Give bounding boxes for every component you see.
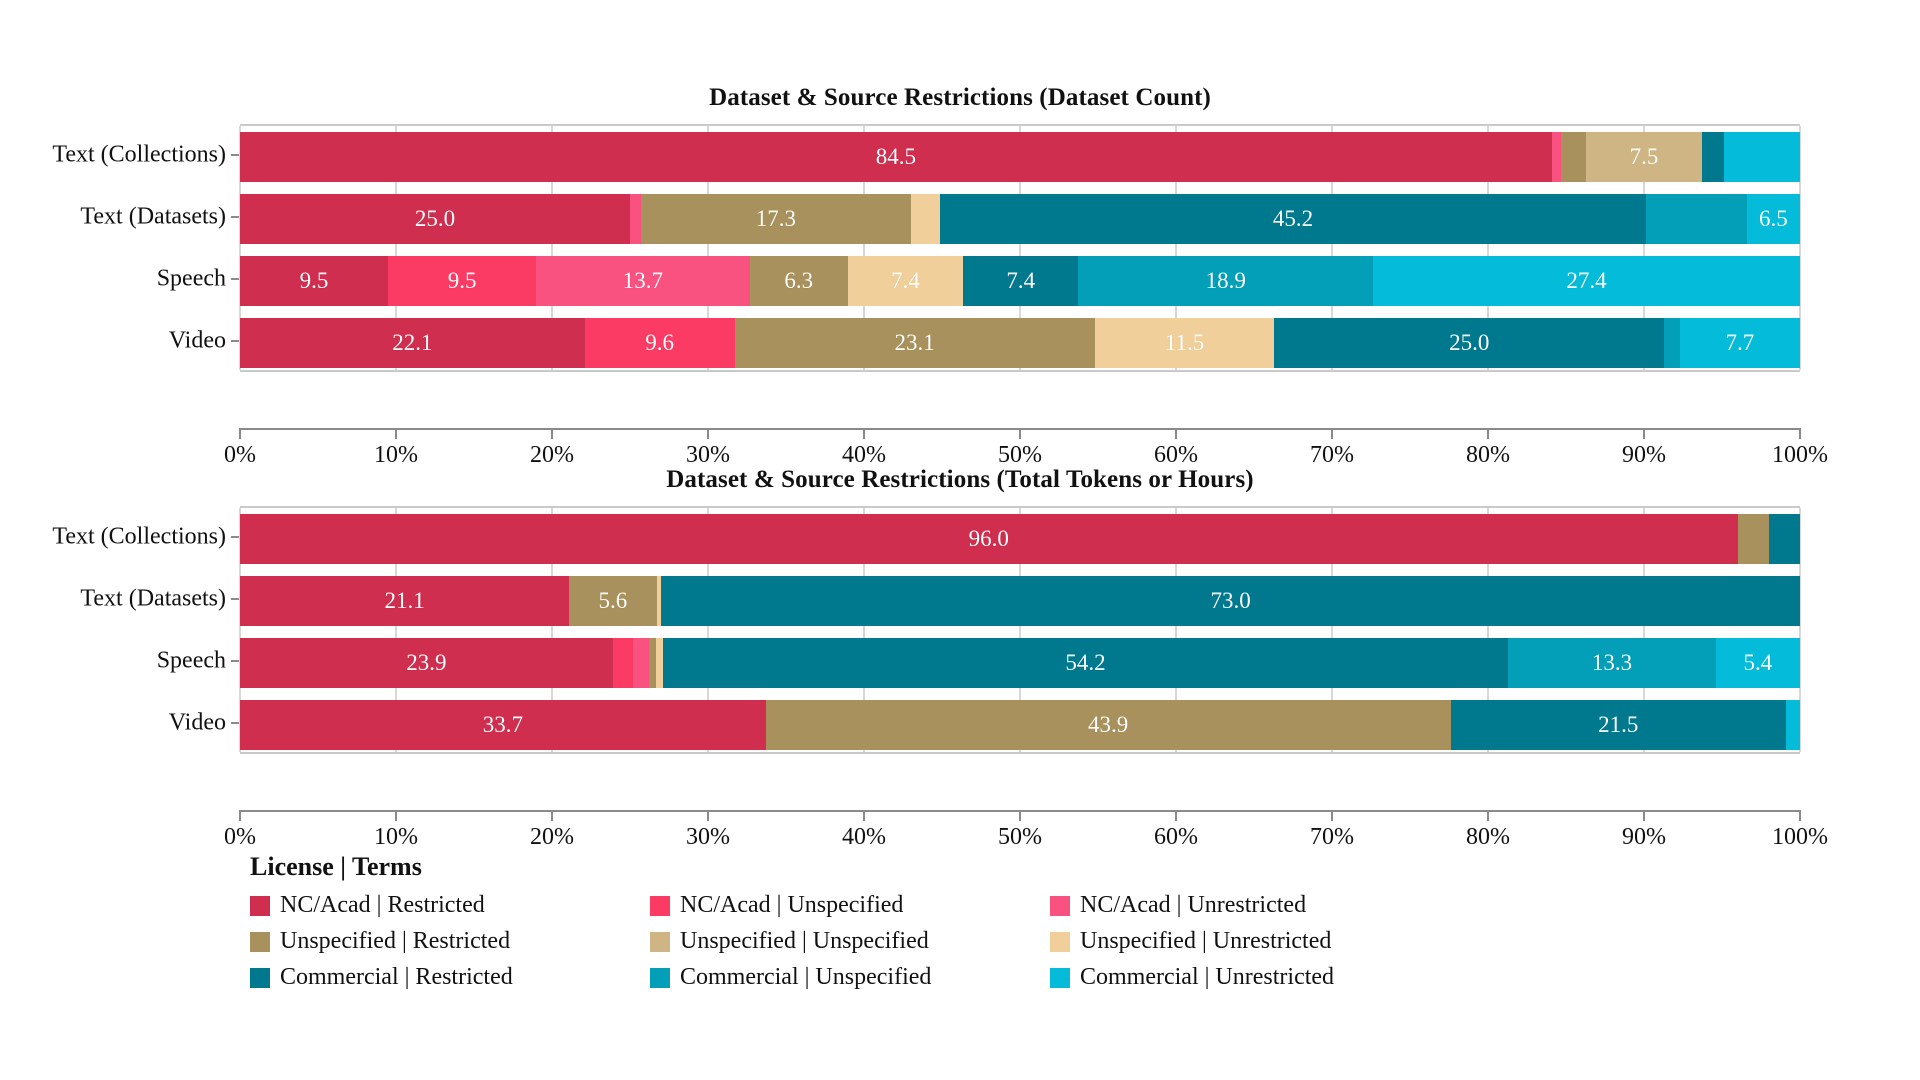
bar-segment[interactable] <box>1724 132 1800 182</box>
legend-label: Commercial | Unrestricted <box>1080 964 1334 991</box>
bar-row[interactable]: 96.0 <box>240 514 1800 564</box>
bar-segment[interactable]: 9.6 <box>585 318 735 368</box>
x-axis-tick-label: 100% <box>1772 824 1828 851</box>
bar-segment[interactable]: 7.4 <box>963 256 1078 306</box>
legend-swatch-icon <box>650 968 670 988</box>
bar-segment[interactable] <box>1561 132 1586 182</box>
bar-row[interactable]: 25.017.345.26.5 <box>240 194 1800 244</box>
bar-segment[interactable]: 33.7 <box>240 700 766 750</box>
bar-segment[interactable] <box>1786 700 1800 750</box>
bar-value-label: 6.3 <box>784 268 813 294</box>
legend-swatch-icon <box>250 896 270 916</box>
bar-segment[interactable] <box>1664 318 1680 368</box>
x-axis-tick <box>239 810 241 821</box>
legend-items: NC/Acad | RestrictedNC/Acad | Unspecifie… <box>250 892 1450 991</box>
bar-value-label: 22.1 <box>392 330 432 356</box>
x-axis-tick-label: 0% <box>224 442 256 469</box>
x-axis-tick-label: 100% <box>1772 442 1828 469</box>
y-axis-labels-1: Text (Collections)Text (Datasets)SpeechV… <box>0 124 240 372</box>
legend-label: NC/Acad | Unspecified <box>680 892 903 919</box>
bar-segment[interactable]: 84.5 <box>240 132 1552 182</box>
x-axis-tick-label: 10% <box>374 442 418 469</box>
bar-value-label: 45.2 <box>1273 206 1313 232</box>
x-axis-tick <box>1019 810 1021 821</box>
bar-segment[interactable]: 96.0 <box>240 514 1738 564</box>
chart-title-1: Dataset & Source Restrictions (Dataset C… <box>0 84 1920 112</box>
x-axis-tick <box>1019 428 1021 439</box>
y-axis-label-text-datasets: Text (Datasets) <box>80 586 226 613</box>
x-axis-tick <box>551 810 553 821</box>
bar-row[interactable]: 21.15.673.0 <box>240 576 1800 626</box>
x-axis-tick <box>863 810 865 821</box>
x-axis-2: 0%10%20%30%40%50%60%70%80%90%100% <box>240 810 1800 856</box>
bar-segment[interactable]: 45.2 <box>940 194 1645 244</box>
bar-segment[interactable] <box>1702 132 1724 182</box>
x-axis-tick <box>707 810 709 821</box>
bar-value-label: 25.0 <box>415 206 455 232</box>
bar-value-label: 96.0 <box>969 526 1009 552</box>
bar-value-label: 54.2 <box>1065 650 1105 676</box>
x-axis-tick <box>1799 810 1801 821</box>
bar-segment[interactable]: 5.6 <box>569 576 656 626</box>
y-axis-label-speech: Speech <box>157 648 226 675</box>
x-axis-tick-label: 80% <box>1466 442 1510 469</box>
legend-swatch-icon <box>650 896 670 916</box>
bar-value-label: 43.9 <box>1088 712 1128 738</box>
bar-segment[interactable] <box>1738 514 1769 564</box>
bars-container-1: 84.57.525.017.345.26.59.59.513.76.37.47.… <box>240 124 1800 372</box>
bar-segment[interactable]: 17.3 <box>641 194 911 244</box>
bar-segment[interactable]: 21.5 <box>1451 700 1786 750</box>
x-axis-tick-label: 40% <box>842 442 886 469</box>
x-axis-tick <box>239 428 241 439</box>
legend-label: Commercial | Restricted <box>280 964 513 991</box>
bar-segment[interactable]: 9.5 <box>388 256 536 306</box>
plot-area-1: Text (Collections)Text (Datasets)SpeechV… <box>0 124 1920 372</box>
bar-segment[interactable]: 6.5 <box>1747 194 1800 244</box>
legend-label: NC/Acad | Restricted <box>280 892 485 919</box>
bar-segment[interactable]: 7.7 <box>1680 318 1800 368</box>
bar-row[interactable]: 9.59.513.76.37.47.418.927.4 <box>240 256 1800 306</box>
bar-value-label: 7.5 <box>1630 144 1659 170</box>
bar-segment[interactable]: 7.5 <box>1586 132 1702 182</box>
x-axis-tick-label: 30% <box>686 824 730 851</box>
x-axis-tick-label: 90% <box>1622 442 1666 469</box>
bar-segment[interactable] <box>911 194 941 244</box>
legend-label: NC/Acad | Unrestricted <box>1080 892 1306 919</box>
bar-segment[interactable] <box>1646 194 1747 244</box>
x-axis-tick-label: 70% <box>1310 824 1354 851</box>
chart-panel-total-tokens-hours: Dataset & Source Restrictions (Total Tok… <box>0 466 1920 754</box>
y-axis-label-video: Video <box>169 328 226 355</box>
y-axis-label-speech: Speech <box>157 266 226 293</box>
bar-segment[interactable] <box>633 638 649 688</box>
bar-row[interactable]: 33.743.921.5 <box>240 700 1800 750</box>
x-axis-tick <box>1175 810 1177 821</box>
x-axis-tick <box>395 428 397 439</box>
x-axis-tick <box>551 428 553 439</box>
bar-value-label: 5.6 <box>598 588 627 614</box>
bar-row[interactable]: 23.954.213.35.4 <box>240 638 1800 688</box>
x-axis-tick <box>1643 810 1645 821</box>
x-axis-tick-label: 0% <box>224 824 256 851</box>
legend-item[interactable]: Unspecified | Unrestricted <box>1050 928 1450 955</box>
x-axis-tick <box>395 810 397 821</box>
bar-segment[interactable]: 6.3 <box>750 256 848 306</box>
bar-value-label: 9.6 <box>645 330 674 356</box>
legend-item[interactable]: NC/Acad | Unspecified <box>650 892 1050 919</box>
x-axis-tick-label: 50% <box>998 442 1042 469</box>
bar-value-label: 7.4 <box>1006 268 1035 294</box>
legend-label: Unspecified | Restricted <box>280 928 510 955</box>
x-axis-tick <box>863 428 865 439</box>
legend-label: Unspecified | Unrestricted <box>1080 928 1331 955</box>
x-axis-tick-label: 30% <box>686 442 730 469</box>
bar-segment[interactable]: 9.5 <box>240 256 388 306</box>
bar-value-label: 6.5 <box>1759 206 1788 232</box>
bar-segment[interactable]: 13.7 <box>536 256 750 306</box>
bar-value-label: 9.5 <box>448 268 477 294</box>
x-axis-tick <box>1487 428 1489 439</box>
bar-segment[interactable]: 25.0 <box>1274 318 1664 368</box>
bar-value-label: 73.0 <box>1210 588 1250 614</box>
x-axis-tick-label: 40% <box>842 824 886 851</box>
x-axis-tick-label: 60% <box>1154 442 1198 469</box>
x-axis-tick-label: 20% <box>530 442 574 469</box>
x-axis-tick-label: 50% <box>998 824 1042 851</box>
y-axis-labels-2: Text (Collections)Text (Datasets)SpeechV… <box>0 506 240 754</box>
legend-swatch-icon <box>250 968 270 988</box>
x-axis-tick <box>1175 428 1177 439</box>
bar-segment[interactable]: 25.0 <box>240 194 630 244</box>
x-axis-tick <box>707 428 709 439</box>
bar-value-label: 33.7 <box>483 712 523 738</box>
legend-item[interactable]: NC/Acad | Restricted <box>250 892 650 919</box>
bar-segment[interactable]: 43.9 <box>766 700 1451 750</box>
legend-item[interactable]: NC/Acad | Unrestricted <box>1050 892 1450 919</box>
legend: License | Terms NC/Acad | RestrictedNC/A… <box>250 852 1450 991</box>
x-axis-tick-label: 90% <box>1622 824 1666 851</box>
bar-value-label: 5.4 <box>1743 650 1772 676</box>
chart-panel-dataset-count: Dataset & Source Restrictions (Dataset C… <box>0 84 1920 372</box>
bar-row[interactable]: 22.19.623.111.525.07.7 <box>240 318 1800 368</box>
bar-segment[interactable]: 54.2 <box>663 638 1509 688</box>
bar-segment[interactable]: 27.4 <box>1373 256 1800 306</box>
bar-value-label: 13.3 <box>1592 650 1632 676</box>
bar-value-label: 18.9 <box>1206 268 1246 294</box>
bar-segment[interactable] <box>1769 514 1800 564</box>
legend-swatch-icon <box>1050 932 1070 952</box>
bar-value-label: 21.1 <box>384 588 424 614</box>
x-axis-tick <box>1331 810 1333 821</box>
x-axis-tick <box>1331 428 1333 439</box>
y-axis-label-text-collections: Text (Collections) <box>52 142 226 169</box>
bar-value-label: 84.5 <box>876 144 916 170</box>
bar-value-label: 23.9 <box>406 650 446 676</box>
x-axis-tick-label: 80% <box>1466 824 1510 851</box>
bar-value-label: 27.4 <box>1566 268 1606 294</box>
bar-segment[interactable] <box>630 194 641 244</box>
figure-canvas: Dataset & Source Restrictions (Dataset C… <box>0 0 1920 1080</box>
legend-label: Commercial | Unspecified <box>680 964 931 991</box>
x-axis-tick-label: 20% <box>530 824 574 851</box>
bar-segment[interactable] <box>649 638 657 688</box>
legend-swatch-icon <box>1050 968 1070 988</box>
bar-value-label: 9.5 <box>300 268 329 294</box>
bar-segment[interactable]: 11.5 <box>1095 318 1274 368</box>
legend-item[interactable]: Commercial | Restricted <box>250 964 650 991</box>
bar-segment[interactable]: 21.1 <box>240 576 569 626</box>
legend-item[interactable]: Commercial | Unspecified <box>650 964 1050 991</box>
legend-swatch-icon <box>1050 896 1070 916</box>
bar-value-label: 7.7 <box>1726 330 1755 356</box>
x-axis-tick-label: 10% <box>374 824 418 851</box>
bar-value-label: 25.0 <box>1449 330 1489 356</box>
bar-segment[interactable]: 22.1 <box>240 318 585 368</box>
legend-item[interactable]: Commercial | Unrestricted <box>1050 964 1450 991</box>
bars-container-2: 96.021.15.673.023.954.213.35.433.743.921… <box>240 506 1800 754</box>
bar-segment[interactable] <box>613 638 633 688</box>
bar-segment[interactable]: 23.1 <box>735 318 1095 368</box>
bar-value-label: 23.1 <box>895 330 935 356</box>
legend-swatch-icon <box>650 932 670 952</box>
x-axis-tick <box>1799 428 1801 439</box>
y-axis-label-video: Video <box>169 710 226 737</box>
y-axis-label-text-datasets: Text (Datasets) <box>80 204 226 231</box>
bar-row[interactable]: 84.57.5 <box>240 132 1800 182</box>
legend-title: License | Terms <box>250 852 1450 882</box>
x-axis-tick-label: 70% <box>1310 442 1354 469</box>
bar-segment[interactable] <box>1552 132 1561 182</box>
bar-segment[interactable]: 73.0 <box>661 576 1800 626</box>
bar-segment[interactable]: 5.4 <box>1716 638 1800 688</box>
legend-item[interactable]: Unspecified | Unspecified <box>650 928 1050 955</box>
bar-value-label: 13.7 <box>623 268 663 294</box>
bar-segment[interactable]: 23.9 <box>240 638 613 688</box>
legend-item[interactable]: Unspecified | Restricted <box>250 928 650 955</box>
bar-value-label: 17.3 <box>756 206 796 232</box>
bar-segment[interactable]: 18.9 <box>1078 256 1373 306</box>
y-axis-label-text-collections: Text (Collections) <box>52 524 226 551</box>
chart-title-2: Dataset & Source Restrictions (Total Tok… <box>0 466 1920 494</box>
x-axis-tick-label: 60% <box>1154 824 1198 851</box>
bar-value-label: 21.5 <box>1598 712 1638 738</box>
bar-value-label: 7.4 <box>891 268 920 294</box>
plot-area-2: Text (Collections)Text (Datasets)SpeechV… <box>0 506 1920 754</box>
legend-swatch-icon <box>250 932 270 952</box>
bar-segment[interactable]: 7.4 <box>848 256 963 306</box>
legend-label: Unspecified | Unspecified <box>680 928 929 955</box>
bar-segment[interactable]: 13.3 <box>1508 638 1715 688</box>
x-axis-tick <box>1487 810 1489 821</box>
bar-value-label: 11.5 <box>1165 330 1204 356</box>
x-axis-tick <box>1643 428 1645 439</box>
